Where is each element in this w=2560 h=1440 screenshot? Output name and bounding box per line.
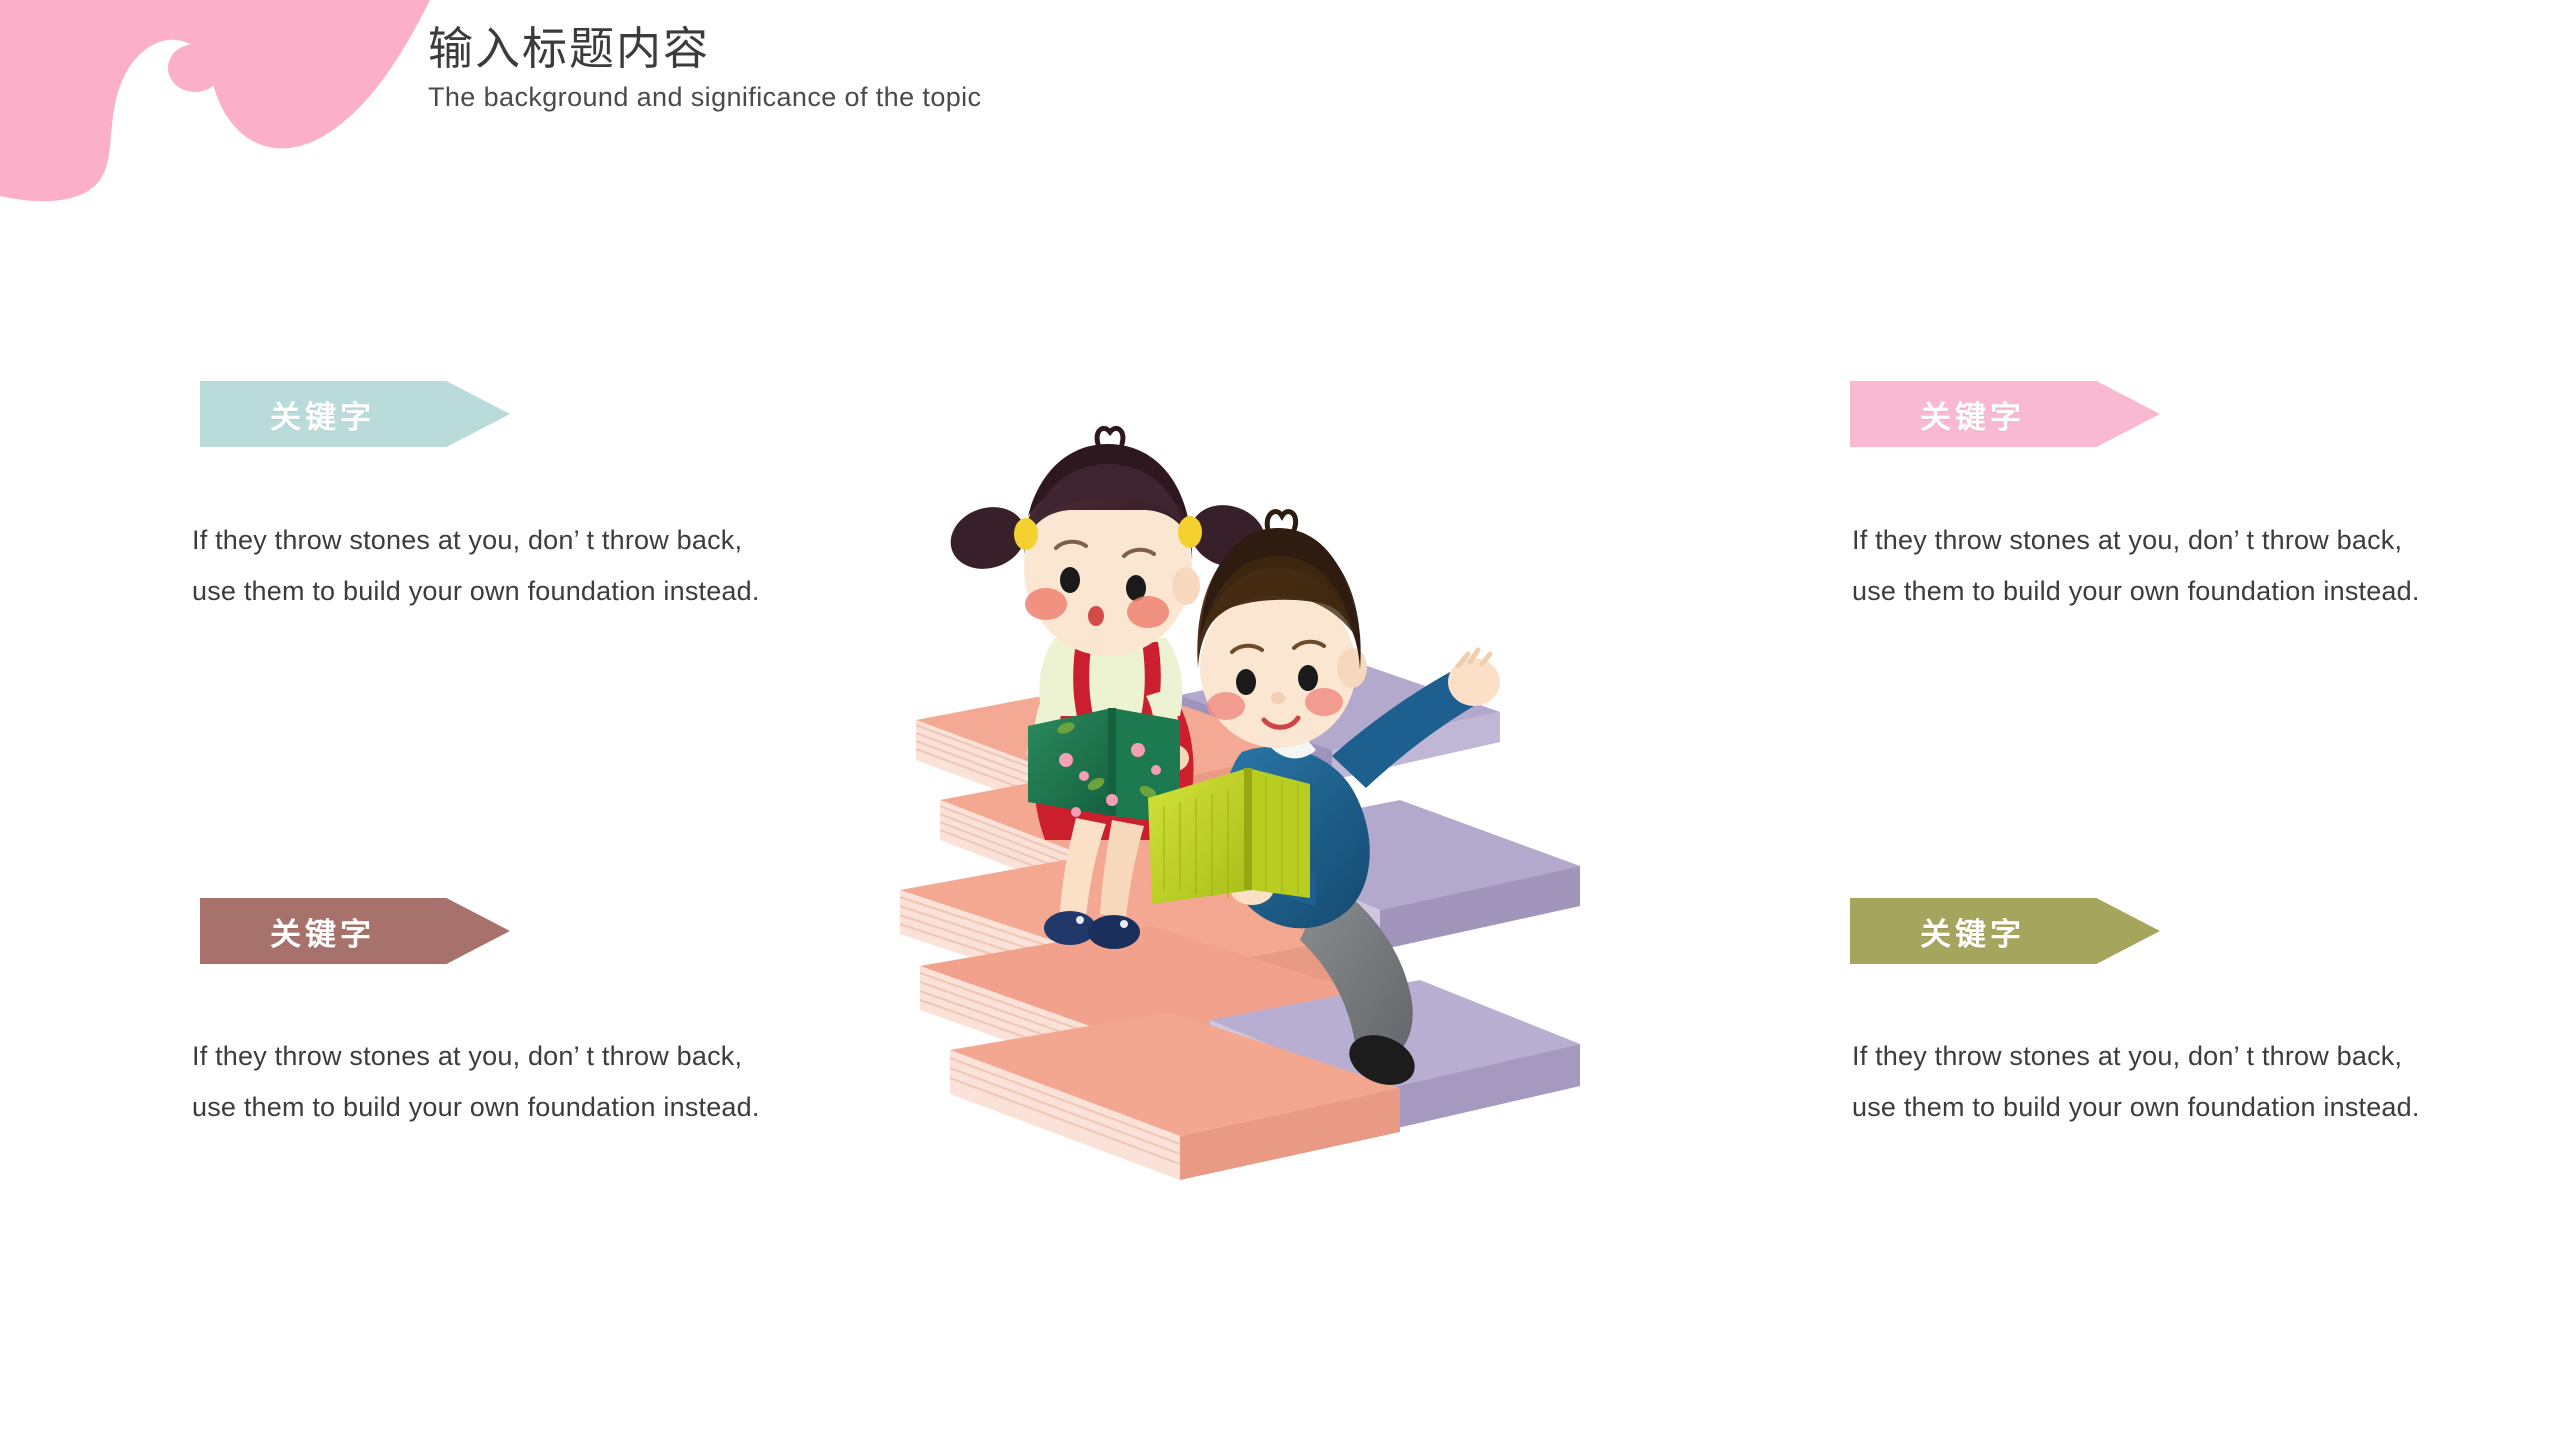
keyword-banner-top-left[interactable]: 关键字 (200, 381, 510, 447)
children-reading-illustration (880, 420, 1680, 1200)
book-stack (900, 660, 1580, 1180)
blob-shape (0, 0, 430, 201)
body-text-bottom-right: If they throw stones at you, don’ t thro… (1852, 1031, 2432, 1133)
keyword-banner-top-right[interactable]: 关键字 (1850, 381, 2160, 447)
slide-canvas: 输入标题内容 The background and significance o… (0, 0, 2560, 1440)
keyword-banner-bottom-left[interactable]: 关键字 (200, 898, 510, 964)
keyword-label: 关键字 (1920, 909, 2025, 954)
keyword-label: 关键字 (270, 909, 375, 954)
blob-accent-dot (168, 44, 222, 92)
body-text-bottom-left: If they throw stones at you, don’ t thro… (192, 1031, 772, 1133)
body-text-top-left: If they throw stones at you, don’ t thro… (192, 515, 772, 617)
slide-header: 输入标题内容 The background and significance o… (428, 22, 981, 113)
keyword-banner-bottom-right[interactable]: 关键字 (1850, 898, 2160, 964)
page-title: 输入标题内容 (428, 22, 981, 75)
page-subtitle: The background and significance of the t… (428, 81, 981, 113)
keyword-label: 关键字 (270, 392, 375, 437)
body-text-top-right: If they throw stones at you, don’ t thro… (1852, 515, 2432, 617)
keyword-label: 关键字 (1920, 392, 2025, 437)
